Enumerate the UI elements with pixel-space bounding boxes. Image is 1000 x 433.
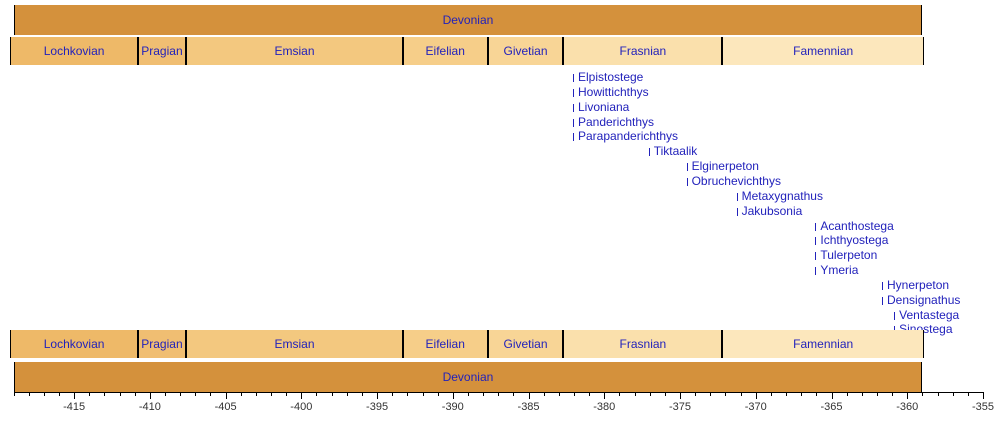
axis-tick-label: -375 [650,402,710,413]
axis-tick-minor [544,392,545,396]
axis-tick-minor [407,392,408,396]
taxon-label: Jakubsonia [742,204,803,218]
axis-tick-minor [14,392,15,396]
axis-tick-minor [29,392,30,396]
axis-tick-major [529,392,530,399]
axis-tick-major [226,392,227,399]
axis-tick-minor [256,392,257,396]
stage-band-eifelian-bottom: Eifelian [403,330,488,358]
axis-tick-minor [619,392,620,396]
axis-tick-major [756,392,757,399]
taxon-label: Densignathus [887,293,960,307]
taxon-label: Howittichthys [578,85,649,99]
axis-tick-minor [483,392,484,396]
taxon-elpistostege: Elpistostege [573,71,643,83]
axis-tick-minor [968,392,969,396]
axis-tick-minor [801,392,802,396]
taxon-tick-icon [737,193,738,201]
axis-tick-label: -395 [347,402,407,413]
taxon-tick-icon [815,252,816,260]
taxon-densignathus: Densignathus [882,294,960,306]
axis-tick-minor [695,392,696,396]
taxon-label: Tiktaalik [654,144,698,158]
stage-band-emsian-bottom: Emsian [186,330,403,358]
taxon-tick-icon [882,297,883,305]
axis-tick-minor [498,392,499,396]
axis-tick-minor [938,392,939,396]
axis-tick-major [680,392,681,399]
taxon-tick-icon [687,163,688,171]
taxon-tick-icon [687,178,688,186]
timeline-chart: Devonian LochkovianPragianEmsianEifelian… [0,0,1000,433]
taxon-tick-icon [573,104,574,112]
axis-tick-label: -370 [726,402,786,413]
taxon-tick-icon [649,148,650,156]
taxon-parapanderichthys: Parapanderichthys [573,130,678,142]
stage-band-pragian-bottom: Pragian [138,330,186,358]
taxon-label: Ventastega [899,308,959,322]
taxon-ichthyostega: Ichthyostega [815,234,888,246]
axis-tick-minor [195,392,196,396]
axis-tick-minor [120,392,121,396]
taxon-obruchevichthys: Obruchevichthys [687,175,781,187]
stage-label: Lochkovian [44,338,105,350]
stage-band-givetian-bottom: Givetian [488,330,564,358]
axis-tick-minor [922,392,923,396]
axis-tick-major [150,392,151,399]
stage-label: Givetian [503,338,547,350]
stage-label: Givetian [503,45,547,57]
axis-tick-minor [59,392,60,396]
stage-band-frasnian-bottom: Frasnian [563,330,722,358]
axis-tick-minor [316,392,317,396]
axis-tick-label: -385 [499,402,559,413]
stage-band-famennian-top: Famennian [722,37,923,65]
stage-band-lochkovian-bottom: Lochkovian [10,330,137,358]
axis-tick-major [377,392,378,399]
taxon-tick-icon [815,237,816,245]
stage-label: Emsian [274,45,314,57]
taxon-label: Elginerpeton [692,159,759,173]
taxon-label: Acanthostega [820,219,893,233]
stage-band-givetian-top: Givetian [488,37,564,65]
taxon-tick-icon [573,119,574,127]
axis-tick-major [453,392,454,399]
axis-tick-minor [559,392,560,396]
taxon-ymeria: Ymeria [815,264,858,276]
taxon-label: Hynerpeton [887,278,949,292]
stage-label: Frasnian [620,45,667,57]
taxon-metaxygnathus: Metaxygnathus [737,190,823,202]
taxon-label: Ymeria [820,263,858,277]
axis-tick-label: -415 [44,402,104,413]
stage-band-lochkovian-top: Lochkovian [10,37,137,65]
stage-label: Frasnian [620,338,667,350]
axis-tick-minor [892,392,893,396]
axis-tick-label: -400 [271,402,331,413]
axis-tick-major [832,392,833,399]
taxon-tulerpeton: Tulerpeton [815,249,877,261]
taxon-label: Obruchevichthys [692,174,781,188]
axis-tick-minor [286,392,287,396]
stage-band-pragian-top: Pragian [138,37,186,65]
taxon-howittichthys: Howittichthys [573,86,649,98]
axis-tick-minor [574,392,575,396]
taxon-tick-icon [815,223,816,231]
taxon-label: Parapanderichthys [578,129,678,143]
stage-label: Eifelian [426,338,465,350]
taxon-acanthostega: Acanthostega [815,220,893,232]
axis-tick-label: -405 [196,402,256,413]
stage-band-emsian-top: Emsian [186,37,403,65]
taxon-livoniana: Livoniana [573,101,629,113]
taxon-tick-icon [737,208,738,216]
axis-tick-minor [180,392,181,396]
taxon-tick-icon [894,312,895,320]
taxon-ventastega: Ventastega [894,309,959,321]
taxon-jakubsonia: Jakubsonia [737,205,803,217]
axis-tick-minor [44,392,45,396]
axis-tick-label: -355 [953,402,1000,413]
taxon-tiktaalik: Tiktaalik [649,145,698,157]
axis-tick-minor [332,392,333,396]
axis-tick-label: -365 [802,402,862,413]
taxon-label: Metaxygnathus [742,189,823,203]
axis-tick-minor [650,392,651,396]
axis-tick-label: -380 [574,402,634,413]
taxon-elginerpeton: Elginerpeton [687,160,759,172]
axis-tick-minor [786,392,787,396]
axis-tick-major [301,392,302,399]
axis-tick-minor [953,392,954,396]
period-band-bottom: Devonian [14,362,923,392]
taxon-tick-icon [573,74,574,82]
stage-label: Emsian [274,338,314,350]
axis-tick-minor [816,392,817,396]
axis-tick-minor [468,392,469,396]
stage-label: Pragian [141,338,182,350]
taxon-label: Livoniana [578,100,629,114]
axis-tick-minor [347,392,348,396]
axis-tick-label: -410 [120,402,180,413]
axis-tick-label: -360 [877,402,937,413]
taxon-label: Elpistostege [578,70,643,84]
stage-band-frasnian-top: Frasnian [563,37,722,65]
stage-label: Lochkovian [44,45,105,57]
axis-tick-minor [771,392,772,396]
taxon-tick-icon [815,267,816,275]
axis-tick-major [74,392,75,399]
taxon-tick-icon [573,133,574,141]
axis-tick-minor [710,392,711,396]
axis-tick-minor [877,392,878,396]
taxon-label: Panderichthys [578,115,654,129]
period-band-top: Devonian [14,5,923,35]
stage-label: Famennian [793,45,853,57]
taxon-label: Tulerpeton [820,248,877,262]
stage-band-eifelian-top: Eifelian [403,37,488,65]
axis-tick-minor [271,392,272,396]
stage-label: Eifelian [426,45,465,57]
axis-tick-minor [104,392,105,396]
axis-tick-minor [862,392,863,396]
axis-tick-minor [438,392,439,396]
axis-tick-label: -390 [423,402,483,413]
taxon-hynerpeton: Hynerpeton [882,279,949,291]
taxon-tick-icon [882,282,883,290]
axis-tick-minor [210,392,211,396]
taxon-label: Ichthyostega [820,233,888,247]
stage-band-famennian-bottom: Famennian [722,330,923,358]
axis-tick-minor [241,392,242,396]
period-label-bottom: Devonian [15,371,922,383]
axis-tick-minor [665,392,666,396]
axis-tick-minor [741,392,742,396]
axis-tick-minor [589,392,590,396]
axis-tick-minor [165,392,166,396]
period-label-top: Devonian [15,14,922,26]
axis-tick-minor [725,392,726,396]
axis-tick-minor [89,392,90,396]
axis-tick-minor [513,392,514,396]
axis-tick-minor [847,392,848,396]
axis-tick-minor [135,392,136,396]
stage-label: Pragian [141,45,182,57]
axis-tick-minor [635,392,636,396]
axis-tick-major [983,392,984,399]
stage-label: Famennian [793,338,853,350]
axis-tick-minor [362,392,363,396]
axis-tick-major [604,392,605,399]
axis-tick-major [907,392,908,399]
taxon-panderichthys: Panderichthys [573,116,654,128]
axis-tick-minor [423,392,424,396]
taxon-tick-icon [573,89,574,97]
axis-tick-minor [392,392,393,396]
